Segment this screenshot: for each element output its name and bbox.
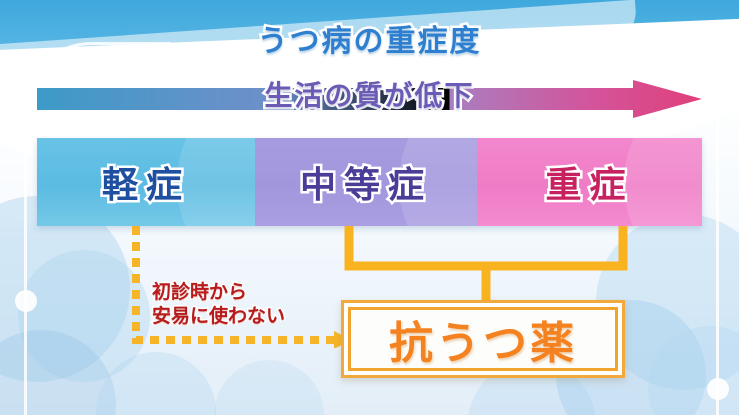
severity-segment-mild: 軽症 bbox=[37, 138, 255, 226]
arrow-label: 生活の質が低下 bbox=[0, 74, 739, 114]
severity-label-moderate: 中等症 bbox=[300, 156, 432, 208]
decorative-rail-right bbox=[716, 104, 719, 415]
decorative-rail-left bbox=[24, 74, 27, 415]
page-title: うつ病の重症度 bbox=[0, 16, 739, 60]
decorative-dot-left bbox=[15, 290, 37, 312]
severity-segment-moderate: 中等症 bbox=[255, 138, 477, 226]
severity-label-severe: 重症 bbox=[545, 156, 633, 208]
treatment-label: 抗うつ薬 bbox=[389, 307, 577, 371]
caution-note-line2: 安易に使わない bbox=[152, 305, 342, 329]
treatment-bracket-connector bbox=[341, 226, 631, 306]
severity-scale-bar: 軽症 中等症 重症 bbox=[37, 138, 702, 226]
caution-note-line1: 初診時から bbox=[152, 281, 342, 305]
infographic-canvas: うつ病の重症度 生活の質が低下 軽症 中等症 重症 bbox=[0, 0, 739, 415]
decorative-dot-right bbox=[707, 378, 729, 400]
severity-segment-severe: 重症 bbox=[477, 138, 702, 226]
caution-note: 初診時から 安易に使わない bbox=[152, 281, 342, 330]
severity-label-mild: 軽症 bbox=[102, 156, 190, 208]
treatment-box: 抗うつ薬 bbox=[341, 300, 625, 378]
